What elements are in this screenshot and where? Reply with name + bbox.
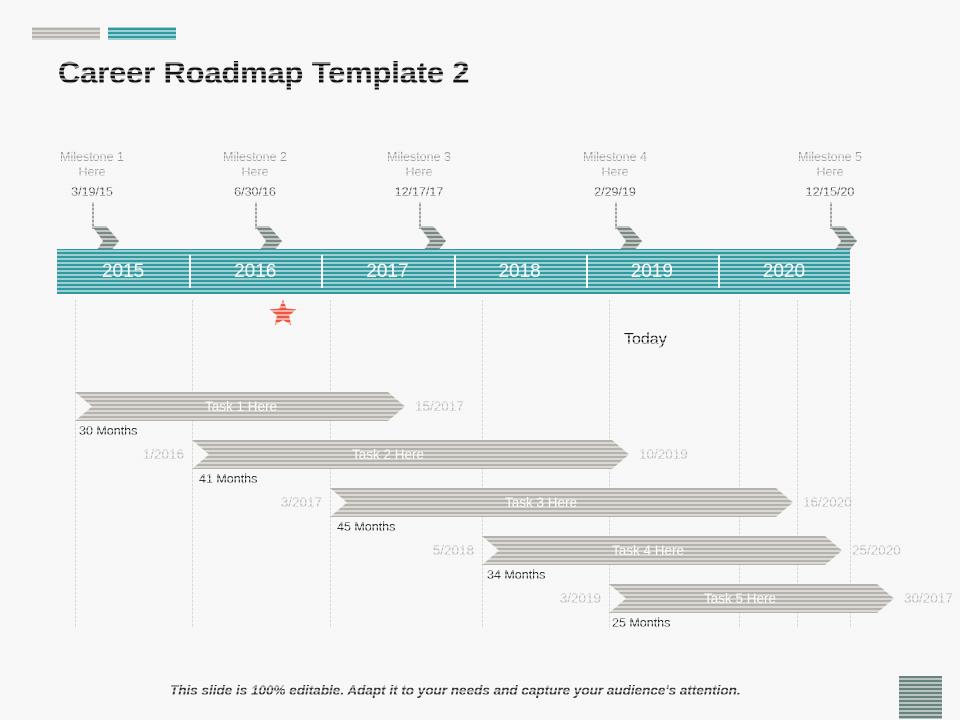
year-cell-2020[interactable]: 2020 [718,249,850,294]
milestone-label: Milestone 2 Here [165,150,345,180]
milestone-connector-line [419,202,421,229]
task-row: 5/2018Task 4 Here25/202034 Months [57,536,850,584]
task-duration-label: 34 Months [487,565,545,585]
footer-note: This slide is 100% editable. Adapt it to… [170,683,741,698]
task-name-label: Task 1 Here [205,392,277,421]
milestone-label: Milestone 1 Here [2,150,182,180]
milestone-connector-line [92,202,94,229]
task-duration-label: 30 Months [79,421,137,441]
year-label: 2016 [234,261,276,283]
year-cell-2015[interactable]: 2015 [57,249,189,294]
footer-accent-square [899,676,942,719]
year-label: 2019 [631,261,673,283]
task-start-label: 3/2017 [250,488,322,517]
task-row: 1/2016Task 2 Here10/201941 Months [57,440,850,488]
milestone-date: 12/17/17 [329,185,509,199]
milestone-connector-line [255,202,257,229]
accent-bar-teal [108,27,176,40]
today-label: Today [624,331,667,349]
page-title: Career Roadmap Template 2 [58,55,469,91]
gantt-plot-area: Task 1 Here15/201730 Months1/2016Task 2 … [57,300,850,628]
task-name-label: Task 2 Here [352,440,424,469]
milestone-5: Milestone 5 Here12/15/20 [740,150,920,199]
year-cell-2019[interactable]: 2019 [586,249,718,294]
task-start-label: 5/2018 [402,536,474,565]
milestone-label: Milestone 3 Here [329,150,509,180]
task-end-label: 15/2017 [415,392,464,421]
milestone-label: Milestone 5 Here [740,150,920,180]
task-duration-label: 41 Months [199,469,257,489]
task-row: Task 1 Here15/201730 Months [57,392,850,440]
milestone-date: 2/29/19 [525,185,705,199]
year-label: 2020 [763,261,805,283]
task-duration-label: 25 Months [612,613,670,633]
task-start-label: 1/2016 [112,440,184,469]
milestone-1: Milestone 1 Here3/19/15 [2,150,182,199]
task-end-label: 30/2017 [904,584,953,613]
task-row: 3/2019Task 5 Here30/201725 Months [57,584,850,632]
milestone-4: Milestone 4 Here2/29/19 [525,150,705,199]
milestone-label: Milestone 4 Here [525,150,705,180]
milestone-connector-line [830,202,832,229]
year-cell-2017[interactable]: 2017 [321,249,453,294]
milestone-date: 6/30/16 [165,185,345,199]
task-end-label: 25/2020 [852,536,901,565]
task-name-label: Task 3 Here [505,488,577,517]
year-label: 2018 [498,261,540,283]
year-cell-2016[interactable]: 2016 [189,249,321,294]
year-label: 2015 [102,261,144,283]
milestone-date: 3/19/15 [2,185,182,199]
today-star-icon [269,299,297,326]
task-end-label: 16/2020 [803,488,852,517]
year-cell-2018[interactable]: 2018 [454,249,586,294]
accent-bar-gray [32,27,100,40]
task-name-label: Task 4 Here [612,536,684,565]
gridline-7 [850,300,851,628]
timeline-year-bar: 201520162017201820192020 [57,249,850,294]
task-end-label: 10/2019 [639,440,688,469]
task-name-label: Task 5 Here [704,584,776,613]
milestone-2: Milestone 2 Here6/30/16 [165,150,345,199]
task-start-label: 3/2019 [529,584,601,613]
task-row: 3/2017Task 3 Here16/202045 Months [57,488,850,536]
milestone-date: 12/15/20 [740,185,920,199]
accent-bars [32,27,176,40]
milestone-3: Milestone 3 Here12/17/17 [329,150,509,199]
milestone-connector-line [615,202,617,229]
task-duration-label: 45 Months [337,517,395,537]
year-label: 2017 [366,261,408,283]
